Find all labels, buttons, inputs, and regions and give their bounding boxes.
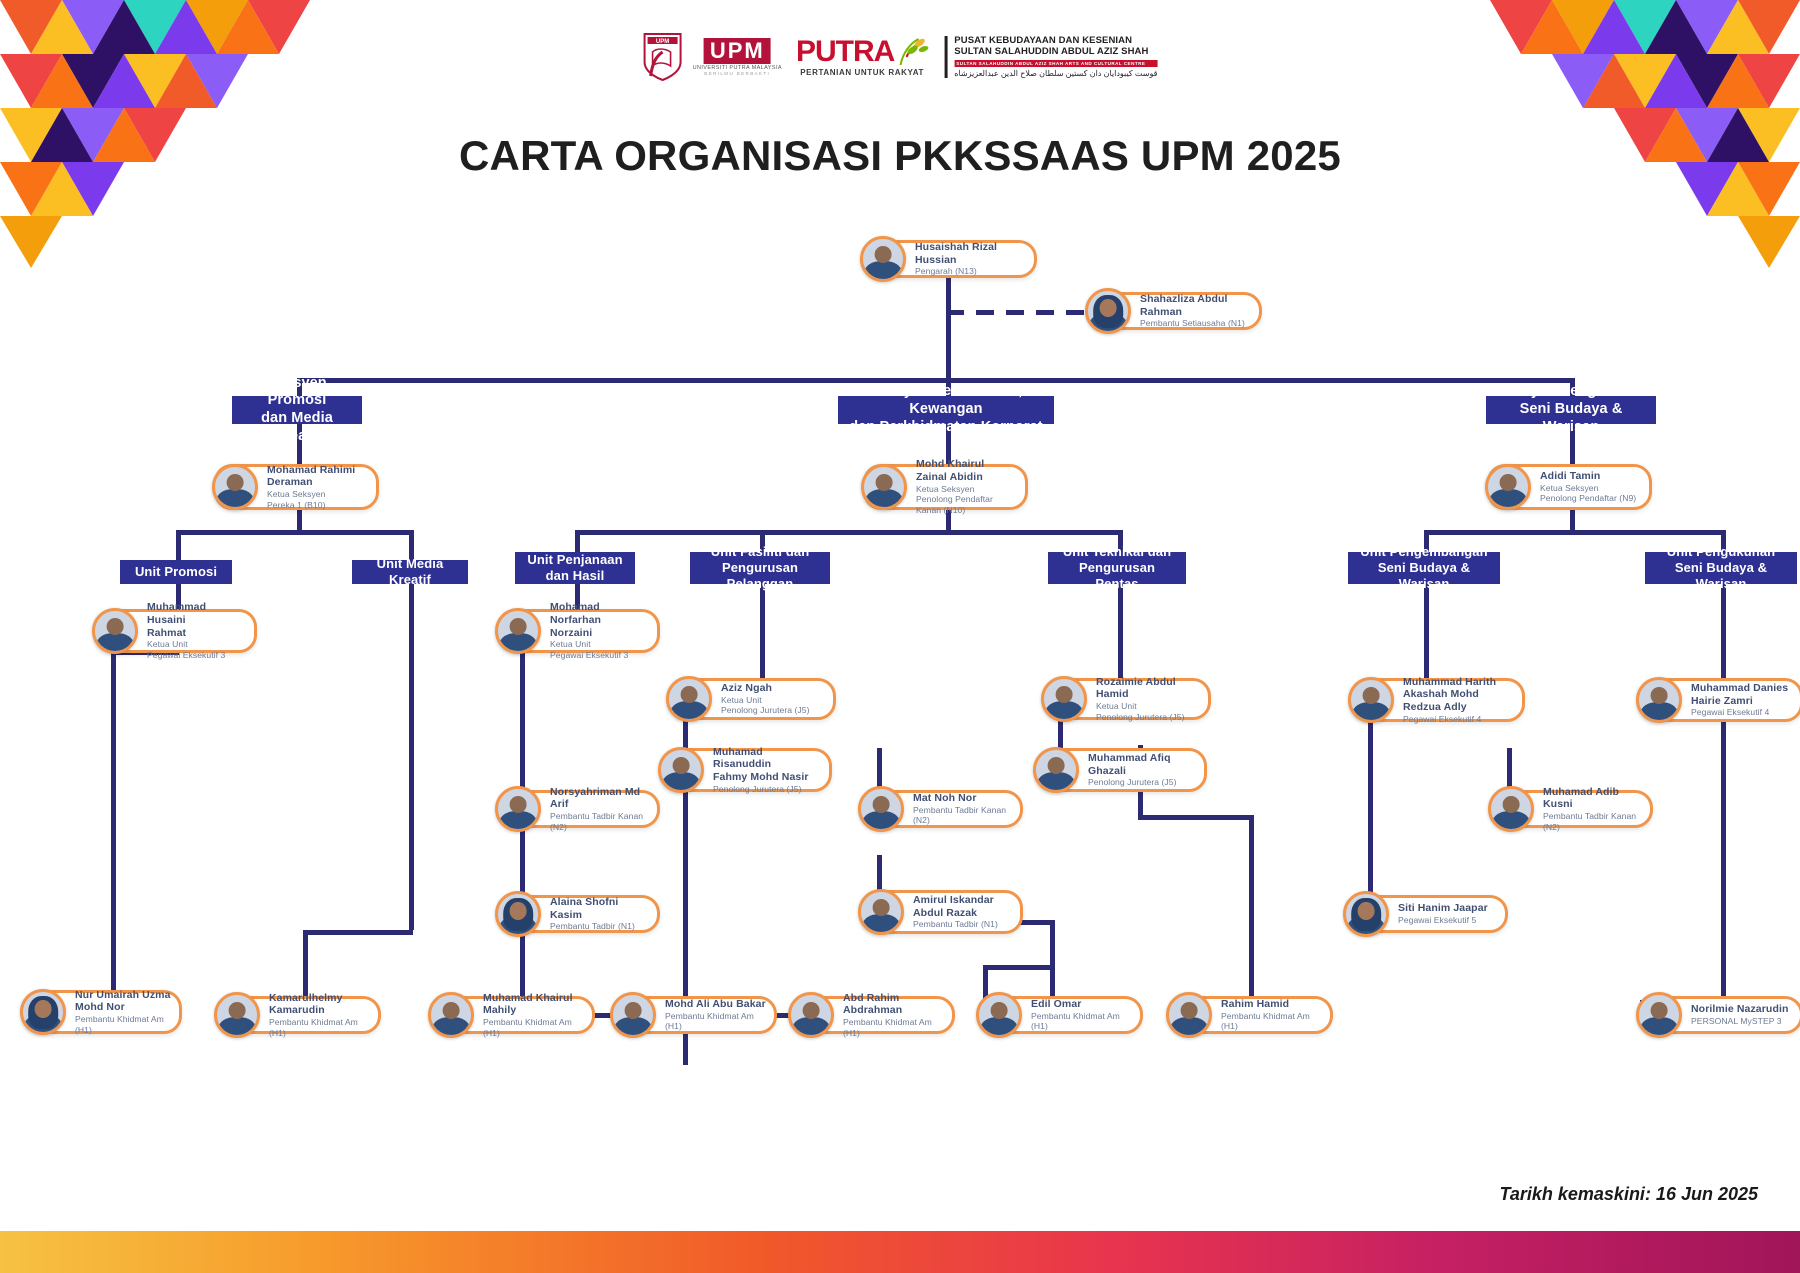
card-secretary[interactable]: Shahazliza Abdul Rahman Pembantu Setiaus… [1087,292,1262,330]
connector-teknikal-right [1138,815,1253,820]
card-bottom-3[interactable]: Muhamad Khairul Mahily Pembantu Khidmat … [430,996,595,1034]
putra-logo: PUTRA PERTANIAN UNTUK RAKYAT [796,37,928,77]
person-name: Muhamad Adib Kusni [1543,786,1642,811]
person-name: Muhammad Afiq Ghazali [1088,752,1177,777]
unit-label: Unit Media Kreatif [360,556,460,588]
avatar [860,236,906,282]
putra-mark-text: PUTRA [796,37,928,67]
card-fasiliti-2[interactable]: Muhamad Risanuddin Fahmy Mohd Nasir Peno… [660,748,832,792]
person-role: Pembantu Tadbir Kanan (N2) [550,811,649,832]
card-director[interactable]: Husaishah Rizal Hussian Pengarah (N13) [862,240,1037,278]
person-name: Rozaimie Abdul Hamid [1096,676,1200,701]
person-name: Norilmie Nazarudin [1691,1003,1788,1016]
card-section-head-promosi[interactable]: Mohamad Rahimi Deraman Ketua Seksyen Per… [214,464,379,510]
person-role: Pembantu Khidmat Am (H1) [843,1017,944,1038]
avatar [214,992,260,1038]
card-bottom-1[interactable]: Nur Umairah Uzma Mohd Nor Pembantu Khidm… [22,990,182,1034]
card-bottom-2[interactable]: Kamarulhelmy Kamarudin Pembantu Khidmat … [216,996,381,1034]
person-name: Mat Noh Nor [913,792,1012,805]
card-fasiliti-head[interactable]: Aziz Ngah Ketua Unit Penolong Jurutera (… [668,678,836,720]
person-role: Pembantu Tadbir (N1) [913,919,998,930]
person-name: Alaina Shofni Kasim [550,896,649,921]
connector-sect3-unit-bus [1424,530,1721,535]
avatar [1636,677,1682,723]
person-role: Pembantu Khidmat Am (H1) [1031,1011,1132,1032]
connector-pengembangan-head [1424,578,1429,678]
avatar [666,676,712,722]
avatar [788,992,834,1038]
person-name: Muhammad Harith Akashah Mohd Redzua Adly [1403,676,1514,714]
avatar [1488,786,1534,832]
connector-director-stub [946,272,951,312]
avatar [1166,992,1212,1038]
person-role: Ketua Seksyen Penolong Pendaftar (N9) [1540,483,1636,504]
connector-media-elbow [303,930,413,935]
unit-header-penjanaan[interactable]: Unit Penjanaan dan Hasil [515,552,635,584]
person-name: Muhammad Husaini Rahmat [147,601,246,639]
avatar [1033,747,1079,793]
card-pengukuhan-head[interactable]: Muhammad Danies Hairie Zamri Pegawai Eks… [1638,678,1800,722]
person-role: Pembantu Khidmat Am (H1) [1221,1011,1322,1032]
person-name: Muhammad Danies Hairie Zamri [1691,682,1788,707]
avatar [976,992,1022,1038]
last-updated-text: Tarikh kemaskini: 16 Jun 2025 [1500,1184,1758,1205]
card-pengukuhan-2[interactable]: Norilmie Nazarudin PERSONAL MySTEP 3 [1638,996,1800,1034]
card-section-head-pengurusan[interactable]: Adidi Tamin Ketua Seksyen Penolong Penda… [1487,464,1652,510]
avatar [858,889,904,935]
person-role: Pembantu Tadbir Kanan (N2) [1543,811,1642,832]
avatar [495,891,541,937]
person-name: Aziz Ngah [721,682,810,695]
person-name: Rahim Hamid [1221,998,1322,1011]
unit-label: Unit Promosi [135,564,217,580]
person-role: Pembantu Tadbir (N1) [550,921,649,932]
connector-teknikal-right-down [1249,815,1254,1000]
card-teknikal-2[interactable]: Muhammad Afiq Ghazali Penolong Jurutera … [1035,748,1207,792]
putra-tagline: PERTANIAN UNTUK RAKYAT [800,69,924,77]
connector-pengukuhan-down [1721,678,1726,1000]
person-name: Kamarulhelmy Kamarudin [269,992,370,1017]
person-name: Mohamad Norfarhan Norzaini [550,601,649,639]
person-name: Nur Umairah Uzma Mohd Nor [75,989,171,1014]
person-role: Pegawai Eksekutif 5 [1398,915,1488,926]
connector-sect1-unit-bus [176,530,411,535]
person-name: Mohd Khairul Zainal Abidin [916,458,1017,483]
person-name: Muhamad Risanuddin Fahmy Mohd Nasir [713,746,821,784]
person-name: Shahazliza Abdul Rahman [1140,293,1251,318]
person-role: Penolong Jurutera (J5) [713,784,821,795]
card-bottom-4[interactable]: Mohd Ali Abu Bakar Pembantu Khidmat Am (… [612,996,777,1034]
card-penjanaan-3[interactable]: Alaina Shofni Kasim Pembantu Tadbir (N1) [497,895,660,933]
unit-header-teknikal[interactable]: Unit Teknikal dan Pengurusan Pentas [1048,552,1186,584]
paddy-icon [894,37,928,67]
person-name: Muhamad Khairul Mahily [483,992,584,1017]
section-label: Seksyen Promosi dan Media Kreatif [240,375,354,446]
unit-header-pengembangan[interactable]: Unit Pengembangan Seni Budaya & Warisan [1348,552,1500,584]
connector-penjanaan-chain [520,645,525,895]
avatar [92,608,138,654]
avatar [20,989,66,1035]
person-name: Siti Hanim Jaapar [1398,902,1488,915]
unit-label: Unit Pengembangan Seni Budaya & Warisan [1356,544,1492,592]
unit-label: Unit Penjanaan dan Hasil [527,552,622,584]
person-role: Ketua Seksyen Penolong Pendaftar Kanan (… [916,484,1017,516]
card-pengembangan-head[interactable]: Muhammad Harith Akashah Mohd Redzua Adly… [1350,678,1525,722]
avatar [1041,676,1087,722]
connector-pengukuhan-head [1721,578,1726,678]
connector-penjanaan-bottom [520,930,525,1000]
unit-label: Unit Pengukuhan Seni Budaya & Warisan [1653,544,1789,592]
connector-teknikal-head [1118,578,1123,680]
avatar [1636,992,1682,1038]
card-pengembangan-3[interactable]: Siti Hanim Jaapar Pegawai Eksekutif 5 [1345,895,1508,933]
unit-label: Unit Fasiliti dan Pengurusan Pelanggan [698,544,822,592]
avatar [428,992,474,1038]
card-teknikal-head[interactable]: Rozaimie Abdul Hamid Ketua Unit Penolong… [1043,678,1211,720]
person-name: Mohamad Rahimi Deraman [267,464,355,489]
svg-text:UPM: UPM [656,39,669,45]
person-role: PERSONAL MySTEP 3 [1691,1016,1788,1027]
section-header-pentadbiran[interactable]: Seksyen Pentadbiran, Kewangan dan Perkhi… [838,396,1054,424]
upm-mark-text: UPM [704,38,771,64]
person-role: Pembantu Khidmat Am (H1) [665,1011,766,1032]
avatar [495,608,541,654]
person-name: Edil Omar [1031,998,1132,1011]
centre-line-2: SULTAN SALAHUDDIN ABDUL AZIZ SHAH [954,47,1157,58]
avatar [212,464,258,510]
connector-director-secretary [946,310,1088,315]
connector-media-to-bottom [303,930,308,1000]
section-label: Seksyen Pengurusan Seni Budaya & Warisan [1494,383,1648,436]
person-name: Norsyahriman Md Arif [550,786,649,811]
person-role: Ketua Seksyen Pereka 1 (B10) [267,489,355,510]
unit-label: Unit Teknikal dan Pengurusan Pentas [1056,544,1178,592]
avatar [861,464,907,510]
section-header-pengurusan[interactable]: Seksyen Pengurusan Seni Budaya & Warisan [1486,396,1656,424]
card-bottom-6[interactable]: Edil Omar Pembantu Khidmat Am (H1) [978,996,1143,1034]
connector-promosi-to-bottom [111,650,116,1000]
card-promosi-head[interactable]: Muhammad Husaini Rahmat Ketua Unit Pegaw… [94,609,257,653]
card-fasiliti-4[interactable]: Amirul Iskandar Abdul Razak Pembantu Tad… [860,890,1023,934]
card-penjanaan-2[interactable]: Norsyahriman Md Arif Pembantu Tadbir Kan… [497,790,660,828]
avatar [1485,464,1531,510]
avatar [495,786,541,832]
person-name: Husaishah Rizal Hussian [915,241,1026,266]
avatar [610,992,656,1038]
card-bottom-7[interactable]: Rahim Hamid Pembantu Khidmat Am (H1) [1168,996,1333,1034]
centre-name-english: SULTAN SALAHUDDIN ABDUL AZIZ SHAH ARTS A… [954,60,1157,67]
person-role: Pembantu Khidmat Am (H1) [269,1017,370,1038]
connector-director-down [946,310,951,378]
upm-wordmark: UPM UNIVERSITI PUTRA MALAYSIA BERILMU BE… [693,38,782,77]
person-role: Pengarah (N13) [915,266,1026,277]
avatar [858,786,904,832]
connector-sections-bus [297,378,1572,383]
connector-fasiliti-head [760,578,765,680]
connector-bottom-bus [983,965,1053,970]
person-role: Ketua Unit Penolong Jurutera (J5) [1096,701,1200,722]
person-role: Pembantu Khidmat Am (H1) [75,1014,171,1035]
card-bottom-5[interactable]: Abd Rahim Abdrahman Pembantu Khidmat Am … [790,996,955,1034]
putra-text: PUTRA [796,37,894,67]
page-title: CARTA ORGANISASI PKKSSAAS UPM 2025 [0,132,1800,180]
person-name: Adidi Tamin [1540,470,1636,483]
centre-name-block: PUSAT KEBUDAYAAN DAN KESENIAN SULTAN SAL… [944,36,1157,78]
person-role: Penolong Jurutera (J5) [1088,777,1177,788]
card-section-head-pentadbiran[interactable]: Mohd Khairul Zainal Abidin Ketua Seksyen… [863,464,1028,510]
person-role: Ketua Unit Penolong Jurutera (J5) [721,695,810,716]
avatar [1343,891,1389,937]
connector-fasiliti-right-down [1050,920,1055,1000]
avatar [1348,677,1394,723]
person-name: Mohd Ali Abu Bakar [665,998,766,1011]
card-penjanaan-head[interactable]: Mohamad Norfarhan Norzaini Ketua Unit Pe… [497,609,660,653]
card-fasiliti-3[interactable]: Mat Noh Nor Pembantu Tadbir Kanan (N2) [860,790,1023,828]
card-pengembangan-2[interactable]: Muhamad Adib Kusni Pembantu Tadbir Kanan… [1490,790,1653,828]
section-label: Seksyen Pentadbiran, Kewangan dan Perkhi… [846,383,1046,436]
person-role: Ketua Unit Pegawai Eksekutif 3 [550,639,649,660]
person-role: Pembantu Tadbir Kanan (N2) [913,805,1012,826]
org-chart-page: UPM UPM UNIVERSITI PUTRA MALAYSIA BERILM… [0,0,1800,1273]
unit-header-fasiliti[interactable]: Unit Fasiliti dan Pengurusan Pelanggan [690,552,830,584]
unit-header-pengukuhan[interactable]: Unit Pengukuhan Seni Budaya & Warisan [1645,552,1797,584]
person-role: Pegawai Eksekutif 4 [1691,707,1788,718]
section-header-promosi[interactable]: Seksyen Promosi dan Media Kreatif [232,396,362,424]
avatar [658,747,704,793]
footer-gradient-bar [0,1231,1800,1273]
person-role: Pembantu Khidmat Am (H1) [483,1017,584,1038]
person-name: Amirul Iskandar Abdul Razak [913,894,998,919]
connector-unit-promosi-down [176,530,181,560]
person-role: Pegawai Eksekutif 4 [1403,714,1514,725]
centre-name-jawi: قوست كيبودايان دان كستين سلطان صلاح الدي… [954,69,1157,78]
connector-media-down [409,578,414,930]
person-role: Ketua Unit Pegawai Eksekutif 3 [147,639,246,660]
header-logo-group: UPM UPM UNIVERSITI PUTRA MALAYSIA BERILM… [643,26,1158,88]
upm-shield-icon: UPM [643,32,683,82]
avatar [1085,288,1131,334]
connector-sect2-unit-bus [575,530,1118,535]
person-role: Pembantu Setiausaha (N1) [1140,318,1251,329]
unit-header-media-kreatif[interactable]: Unit Media Kreatif [352,560,468,584]
upm-motto: BERILMU BERBAKTI [704,72,770,77]
unit-header-promosi[interactable]: Unit Promosi [120,560,232,584]
person-name: Abd Rahim Abdrahman [843,992,944,1017]
